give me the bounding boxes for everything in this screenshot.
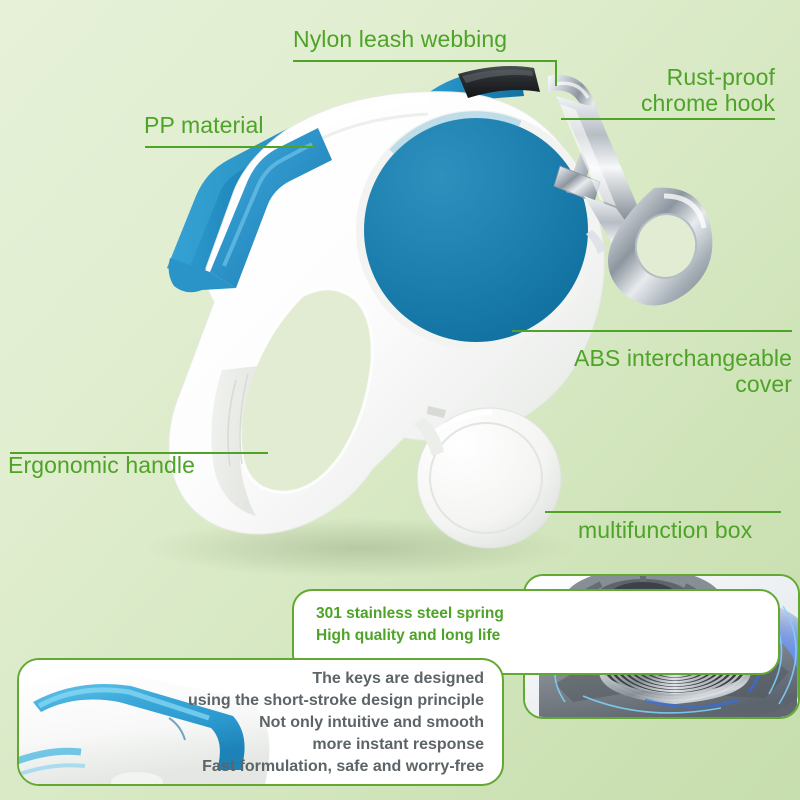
leader-multifunction-box	[545, 511, 781, 513]
callout-abs-line2: cover	[452, 371, 792, 397]
callout-multifunction-box: multifunction box	[578, 517, 752, 543]
callout-ergonomic-handle: Ergonomic handle	[8, 452, 195, 478]
keys-feature-panel: The keys are designed using the short-st…	[17, 658, 504, 786]
keys-feature-text: The keys are designed using the short-st…	[188, 668, 484, 778]
callout-abs-line1: ABS interchangeable	[452, 345, 792, 371]
spring-feature-title: 301 stainless steel spring High quality …	[316, 603, 504, 648]
abs-interchangeable-cover	[364, 118, 588, 342]
infographic-canvas: Nylon leash webbing Rust-proof chrome ho…	[0, 0, 800, 800]
callout-rust-proof-chrome-hook: Rust-proof chrome hook	[475, 64, 775, 116]
leader-ergonomic-handle	[10, 452, 268, 454]
leader-abs-interchangeable-cover	[512, 330, 792, 332]
leader-rust-proof-chrome-hook	[561, 118, 775, 120]
callout-rust-proof-line1: Rust-proof	[475, 64, 775, 90]
callout-abs-interchangeable-cover: ABS interchangeable cover	[452, 345, 792, 397]
callout-rust-proof-line2: chrome hook	[475, 90, 775, 116]
leader-pp-material	[145, 146, 315, 148]
callout-pp-material: PP material	[144, 112, 264, 138]
leader-nylon-leash-webbing-h	[293, 60, 557, 62]
callout-nylon-leash-webbing: Nylon leash webbing	[293, 26, 507, 52]
